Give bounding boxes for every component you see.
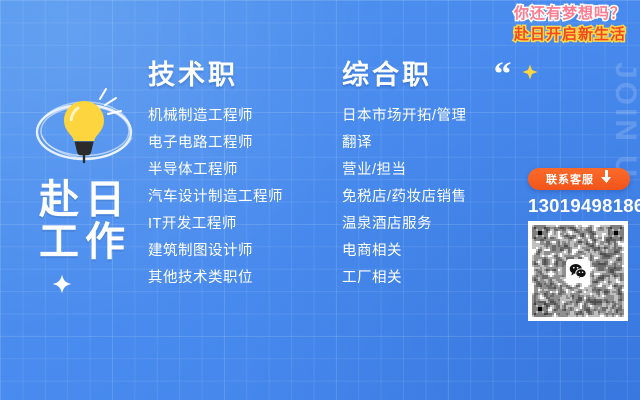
wechat-icon [566, 259, 590, 283]
list-item[interactable]: 免税店/药妆店销售 [342, 190, 467, 205]
quote-mark-icon: “ [494, 58, 512, 92]
join-us-watermark: JOIN U [608, 62, 640, 180]
brand-line-1: 赴日 [22, 180, 148, 222]
list-item[interactable]: 电子电路工程师 [148, 136, 283, 151]
list-item[interactable]: 建筑制图设计师 [148, 244, 283, 259]
qr-code[interactable] [528, 221, 628, 321]
sparkle-star-yellow-icon [522, 64, 538, 85]
list-item[interactable]: 半导体工程师 [148, 163, 283, 178]
headline-block: 你还有梦想吗？ 赴日开启新生活 [514, 6, 626, 42]
column-technical-title: 技术职 [148, 62, 283, 89]
list-item[interactable]: 其他技术类职位 [148, 271, 283, 286]
poster-canvas: 你还有梦想吗？ 赴日开启新生活 JOIN U [0, 0, 640, 400]
list-item[interactable]: 翻译 [342, 136, 467, 151]
list-item[interactable]: 汽车设计制造工程师 [148, 190, 283, 205]
lightbulb-icon [22, 84, 148, 176]
column-technical: 技术职 机械制造工程师 电子电路工程师 半导体工程师 汽车设计制造工程师 IT开… [148, 62, 283, 298]
list-item[interactable]: 机械制造工程师 [148, 109, 283, 124]
list-item[interactable]: IT开发工程师 [148, 217, 283, 232]
column-general-list: 日本市场开拓/管理 翻译 营业/担当 免税店/药妆店销售 温泉酒店服务 电商相关… [342, 109, 467, 286]
brand-line-2: 工作 [22, 222, 148, 264]
list-item[interactable]: 温泉酒店服务 [342, 217, 467, 232]
column-general: 综合职 日本市场开拓/管理 翻译 营业/担当 免税店/药妆店销售 温泉酒店服务 … [342, 62, 467, 298]
contact-block: 联系客服 13019498186 [528, 168, 630, 321]
list-item[interactable]: 营业/担当 [342, 163, 467, 178]
list-item[interactable]: 日本市场开拓/管理 [342, 109, 467, 124]
list-item[interactable]: 电商相关 [342, 244, 467, 259]
brand-block: 赴日 工作 [22, 84, 148, 263]
sparkle-star-white-icon [52, 274, 72, 299]
column-technical-list: 机械制造工程师 电子电路工程师 半导体工程师 汽车设计制造工程师 IT开发工程师… [148, 109, 283, 286]
brand-title: 赴日 工作 [22, 180, 148, 263]
contact-phone-number[interactable]: 13019498186 [528, 195, 630, 217]
headline-line-2: 赴日开启新生活 [514, 27, 626, 42]
list-item[interactable]: 工厂相关 [342, 271, 467, 286]
column-general-title: 综合职 [342, 62, 467, 89]
contact-support-button[interactable]: 联系客服 [528, 168, 630, 190]
headline-line-1: 你还有梦想吗？ [514, 6, 626, 21]
contact-support-label: 联系客服 [546, 171, 594, 187]
arrow-down-icon [601, 170, 612, 188]
